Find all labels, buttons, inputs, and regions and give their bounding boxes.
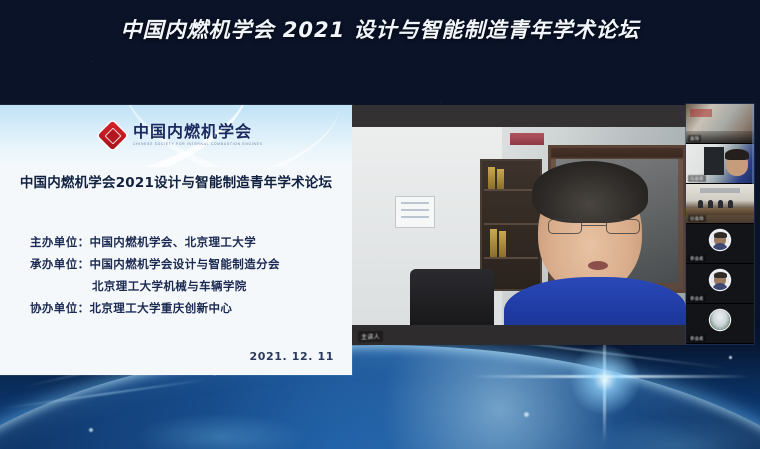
lens-flare-core: [568, 343, 642, 417]
participant-tile[interactable]: 参会者: [686, 224, 754, 264]
participant-tile[interactable]: 参会者: [686, 264, 754, 304]
avatar: [710, 230, 730, 250]
speaker-camera-scene: [352, 127, 686, 325]
avatar: [710, 310, 730, 330]
organizer-label: 协办单位：: [30, 301, 90, 315]
organizer-label: 承办单位：: [30, 257, 90, 271]
city-light-dot: [88, 427, 94, 433]
society-diamond-logo-icon: [100, 123, 125, 148]
slide-organizer-list: 主办单位：中国内燃机学会、北京理工大学 承办单位：中国内燃机学会设计与智能制造分…: [30, 231, 330, 319]
slide-title: 中国内燃机学会2021设计与智能制造青年学术论坛: [0, 171, 352, 191]
main-speaker-video[interactable]: 主讲人: [352, 105, 686, 345]
broadcast-stage: 中国内燃机学会 2021 设计与智能制造青年学术论坛 中国内燃机学会 CHINE…: [0, 0, 760, 449]
organizer-line: 北京理工大学机械与车辆学院: [30, 275, 330, 297]
organizer-line: 承办单位：中国内燃机学会设计与智能制造分会: [30, 253, 330, 275]
city-light-dot: [728, 355, 733, 360]
shared-slide-panel[interactable]: 中国内燃机学会 CHINESE SOCIETY FOR INTERNAL COM…: [0, 105, 352, 375]
participant-tile[interactable]: 分会场: [686, 184, 754, 224]
office-chair: [410, 269, 494, 325]
participant-name-label: 参会者: [688, 295, 706, 302]
participant-name-label: 参会者: [688, 255, 706, 262]
participant-tile[interactable]: 参会者: [686, 304, 754, 344]
participant-tile[interactable]: 会场: [686, 104, 754, 144]
participant-name-label: 会场: [688, 135, 701, 142]
society-logo: 中国内燃机学会 CHINESE SOCIETY FOR INTERNAL COM…: [100, 123, 263, 148]
speaker-mouth: [588, 261, 608, 270]
participant-name-label: 与会者: [688, 175, 706, 182]
organizer-value: 北京理工大学重庆创新中心: [90, 301, 233, 315]
organizer-value: 中国内燃机学会设计与智能制造分会: [90, 257, 280, 271]
avatar: [710, 270, 730, 290]
main-video-name-label: 主讲人: [358, 331, 383, 342]
slide-date: 2021. 12. 11: [250, 350, 334, 363]
organizer-line: 主办单位：中国内燃机学会、北京理工大学: [30, 231, 330, 253]
participant-thumbnail-strip[interactable]: 会场 与会者 分会场 参会者 参会者: [686, 104, 754, 344]
logo-chinese-name: 中国内燃机学会: [133, 124, 263, 140]
video-letterbox-bottom: 主讲人: [352, 325, 686, 345]
strip-scrollbar[interactable]: [752, 104, 754, 184]
participant-tile[interactable]: 与会者: [686, 144, 754, 184]
speaker-glasses-icon: [548, 219, 640, 234]
shelf-red-box: [510, 133, 544, 145]
city-light-dot: [523, 411, 530, 418]
organizer-value: 北京理工大学机械与车辆学院: [92, 279, 247, 293]
logo-english-name: CHINESE SOCIETY FOR INTERNAL COMBUSTION …: [133, 143, 263, 147]
speaker-hair: [532, 161, 648, 223]
slide-header-banner: 中国内燃机学会 CHINESE SOCIETY FOR INTERNAL COM…: [0, 105, 352, 167]
participant-name-label: 参会者: [688, 335, 706, 342]
organizer-line: 协办单位：北京理工大学重庆创新中心: [30, 297, 330, 319]
page-title: 中国内燃机学会 2021 设计与智能制造青年学术论坛: [0, 14, 760, 44]
organizer-value: 中国内燃机学会、北京理工大学: [90, 235, 257, 249]
participant-name-label: 分会场: [688, 215, 706, 222]
video-letterbox-top: [352, 105, 686, 127]
organizer-label: 主办单位：: [30, 235, 90, 249]
wall-poster: [396, 197, 434, 227]
